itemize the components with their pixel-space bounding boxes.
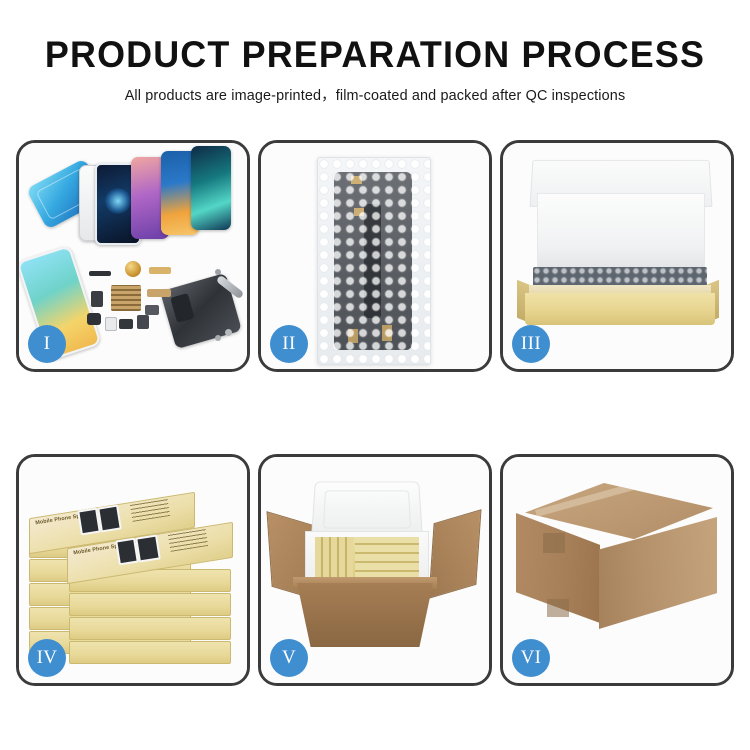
carton-body-icon — [297, 583, 433, 647]
carton-seam — [543, 533, 565, 553]
bracket-part-icon — [137, 315, 149, 329]
box-product-thumbnail — [97, 505, 122, 533]
step-panel-3: III — [500, 140, 734, 372]
stacked-box — [69, 641, 231, 664]
step-panel-6: VI — [500, 454, 734, 686]
step-panel-1: I — [16, 140, 250, 372]
boxes-vertical-row — [315, 537, 353, 579]
stacked-box — [69, 593, 231, 616]
step-panel-2: II — [258, 140, 492, 372]
step-badge-6: VI — [512, 639, 550, 677]
speaker-part-icon — [125, 261, 141, 277]
header: PRODUCT PREPARATION PROCESS All products… — [0, 36, 750, 105]
process-step-grid: I II — [16, 140, 734, 686]
teal-phone-icon — [191, 146, 231, 230]
page-subtitle: All products are image-printed，film-coat… — [0, 84, 750, 105]
connector-part-icon — [119, 319, 133, 329]
page-title: PRODUCT PREPARATION PROCESS — [11, 36, 739, 75]
screw-icon — [215, 269, 221, 275]
step-badge-5: V — [270, 639, 308, 677]
adhesive-tab — [382, 325, 392, 341]
logic-board-icon — [111, 285, 141, 311]
kraft-box-front-icon — [525, 293, 715, 325]
adhesive-tab — [351, 176, 362, 185]
step-panel-4: Mobile Phone Spare Parts Mobile Phone Sp… — [16, 454, 250, 686]
adhesive-tab — [354, 208, 364, 217]
step-badge-1: I — [28, 325, 66, 363]
small-part-icon — [91, 291, 103, 307]
wrapped-screen-part-icon — [334, 172, 412, 350]
foam-sheet-icon — [537, 193, 705, 269]
shield-part-icon — [145, 305, 159, 315]
camera-module-icon — [87, 313, 101, 325]
carton-seam — [547, 599, 569, 617]
step-badge-2: II — [270, 325, 308, 363]
box-product-thumbnail — [135, 534, 161, 562]
sim-tray-icon — [105, 317, 117, 331]
screw-icon — [215, 335, 221, 341]
packed-boxes-icon — [315, 537, 419, 579]
step-badge-4: IV — [28, 639, 66, 677]
gold-flex-cable-icon — [147, 289, 171, 297]
step-panel-5: V — [258, 454, 492, 686]
flex-cable-icon — [149, 267, 171, 274]
bubble-wrap-bag-icon — [317, 157, 431, 365]
step-badge-3: III — [512, 325, 550, 363]
product-preparation-infographic: PRODUCT PREPARATION PROCESS All products… — [0, 0, 750, 750]
screw-icon — [225, 329, 232, 336]
boxes-horizontal-row — [355, 537, 419, 579]
adhesive-tab — [348, 329, 358, 343]
stacked-box — [69, 617, 231, 640]
earpiece-part-icon — [89, 271, 111, 276]
part-strip — [364, 204, 381, 318]
